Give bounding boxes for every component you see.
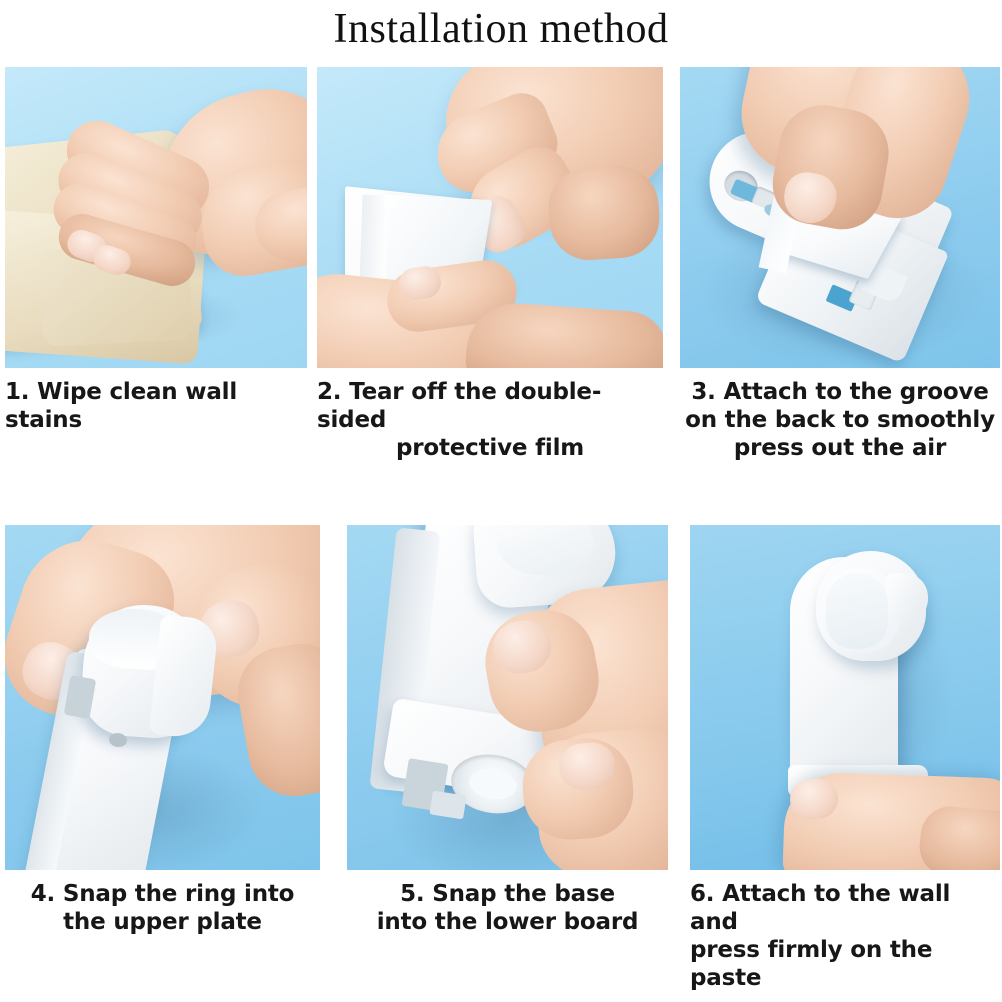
step-6-caption: 6. Attach to the wall and press firmly o…: [690, 870, 1000, 992]
photo-tear-off-protective-film: [317, 67, 663, 368]
page-title: Installation method: [0, 2, 1002, 56]
step-4-caption: 4. Snap the ring into the upper plate: [5, 870, 320, 936]
holder-inner-shade: [826, 573, 888, 649]
step-3-caption-line-1: 3. Attach to the groove: [680, 378, 1000, 406]
finger-knuckle: [917, 803, 1000, 870]
step-3-caption-line-2: on the back to smoothly: [680, 406, 1000, 434]
step-3-caption-line-3: press out the air: [680, 434, 1000, 462]
step-6-caption-line-2: press firmly on the paste: [690, 936, 1000, 992]
step-4-caption-line-2: the upper plate: [5, 908, 320, 936]
upper-hand-palm: [546, 163, 662, 262]
step-1-caption: 1. Wipe clean wall stains: [5, 368, 307, 434]
step-5-caption-line-1: 5. Snap the base: [347, 880, 668, 908]
step-1-caption-line-1: 1. Wipe clean wall stains: [5, 378, 307, 434]
step-1: 1. Wipe clean wall stains: [5, 67, 307, 434]
step-2-caption: 2. Tear off the double-sided protective …: [317, 368, 663, 462]
step-2: 2. Tear off the double-sided protective …: [317, 67, 663, 462]
step-6: 6. Attach to the wall and press firmly o…: [690, 525, 1000, 992]
photo-attach-to-groove: [680, 67, 1000, 368]
film-peeled-edge: [359, 195, 388, 290]
step-6-caption-line-1: 6. Attach to the wall and: [690, 880, 1000, 936]
step-5-caption: 5. Snap the base into the lower board: [347, 870, 668, 936]
installation-method-infographic: Installation method: [0, 0, 1002, 1002]
step-3: 3. Attach to the groove on the back to s…: [680, 67, 1000, 462]
step-2-caption-line-1: 2. Tear off the double-sided: [317, 378, 663, 434]
photo-wipe-wall-stains: [5, 67, 307, 368]
step-4: 4. Snap the ring into the upper plate: [5, 525, 320, 936]
step-5: 5. Snap the base into the lower board: [347, 525, 668, 936]
photo-attach-to-wall-press-firmly: [690, 525, 1000, 870]
step-5-caption-line-2: into the lower board: [347, 908, 668, 936]
step-3-caption: 3. Attach to the groove on the back to s…: [680, 368, 1000, 462]
step-2-caption-line-2: protective film: [317, 434, 663, 462]
photo-snap-base-into-lower-board: [347, 525, 668, 870]
photo-snap-ring-into-upper-plate: [5, 525, 320, 870]
base-clip-tab-2: [429, 790, 466, 819]
step-4-caption-line-1: 4. Snap the ring into: [5, 880, 320, 908]
